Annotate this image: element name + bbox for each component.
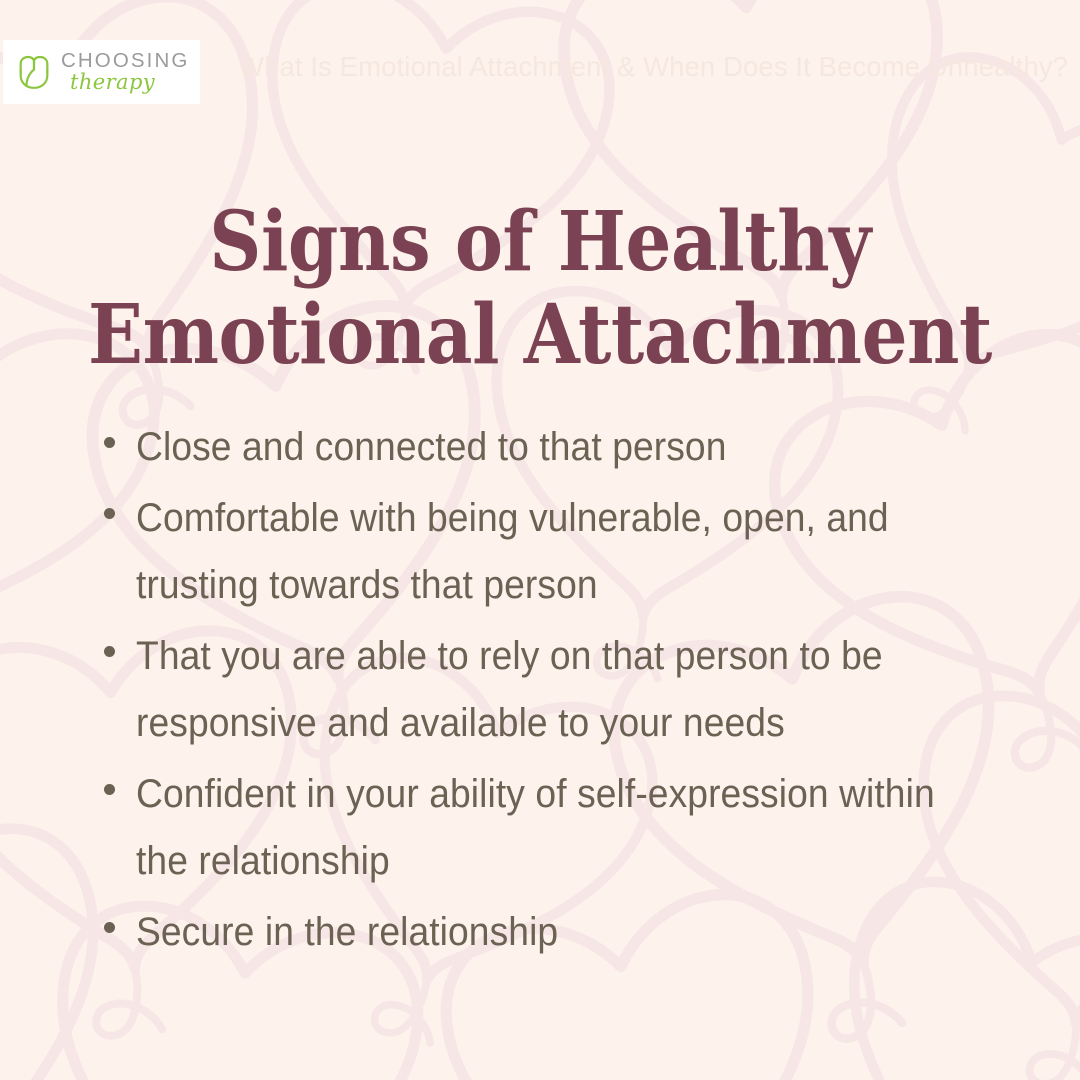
page-title: Signs of Healthy Emotional Attachment	[0, 196, 1080, 382]
brand-logo[interactable]: CHOOSING therapy	[3, 40, 200, 104]
brand-wordmark: CHOOSING therapy	[61, 51, 189, 94]
page-title-line-1: Signs of Healthy	[65, 196, 1015, 289]
page-title-line-2: Emotional Attachment	[65, 289, 1015, 382]
list-item-label: Close and connected to that person	[136, 414, 971, 481]
infographic-canvas: CHOOSING therapy What Is Emotional Attac…	[0, 0, 1080, 1080]
signs-list: Close and connected to that person Comfo…	[104, 414, 1034, 970]
list-item: Comfortable with being vulnerable, open,…	[104, 485, 1034, 619]
list-item-label: That you are able to rely on that person…	[136, 623, 971, 757]
list-item: That you are able to rely on that person…	[104, 623, 1034, 757]
bullet-dot-icon	[104, 437, 115, 448]
list-item-label: Secure in the relationship	[136, 899, 971, 966]
list-item: Close and connected to that person	[104, 414, 1034, 481]
bullet-dot-icon	[104, 784, 115, 795]
bullet-dot-icon	[104, 922, 115, 933]
list-item-label: Comfortable with being vulnerable, open,…	[136, 485, 971, 619]
list-item: Secure in the relationship	[104, 899, 1034, 966]
lotus-leaf-icon	[14, 52, 54, 92]
list-item: Confident in your ability of self-expres…	[104, 761, 1034, 895]
bullet-dot-icon	[104, 646, 115, 657]
article-title-header: What Is Emotional Attachment & When Does…	[238, 51, 1080, 83]
bullet-dot-icon	[104, 508, 115, 519]
brand-name-secondary: therapy	[70, 72, 155, 93]
header-bar: CHOOSING therapy What Is Emotional Attac…	[0, 0, 1080, 120]
brand-name-primary: CHOOSING	[61, 51, 189, 72]
list-item-label: Confident in your ability of self-expres…	[136, 761, 971, 895]
